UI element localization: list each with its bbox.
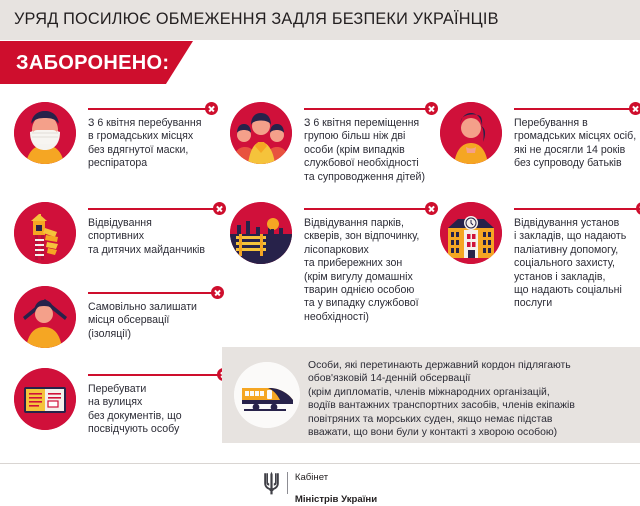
list-item-body: Відвідування спортивних та дитячих майда…	[88, 202, 222, 257]
playground-icon	[14, 202, 76, 264]
footer-line-1: Кабінет	[295, 472, 328, 483]
person-at-home-icon	[14, 286, 76, 348]
rule-line	[88, 108, 210, 110]
close-icon	[425, 202, 438, 215]
list-item-label: Перебування в громадських місцях осіб, я…	[514, 117, 638, 171]
list-item-label: З 6 квітня переміщення групою більш ніж …	[304, 117, 435, 184]
train-icon	[234, 362, 300, 428]
rule-line	[514, 108, 634, 110]
close-icon	[636, 202, 640, 215]
ukraine-trident-icon	[263, 471, 280, 495]
list-item-label: Відвідування парків, скверів, зон відпоч…	[304, 217, 435, 324]
id-document-icon	[14, 368, 76, 430]
institution-building-icon	[440, 202, 502, 264]
strike-rule	[88, 202, 222, 216]
close-icon	[629, 102, 640, 115]
rule-line	[88, 292, 216, 294]
list-item-body: Відвідування парків, скверів, зон відпоч…	[304, 202, 435, 324]
strike-rule	[514, 202, 640, 216]
rule-line	[88, 208, 218, 210]
group-of-people-icon	[230, 102, 292, 164]
strike-rule	[88, 286, 220, 300]
strike-rule	[88, 102, 214, 116]
list-item-body: Перебування в громадських місцях осіб, я…	[514, 102, 638, 171]
page-title: УРЯД ПОСИЛЮЄ ОБМЕЖЕННЯ ЗАДЛЯ БЕЗПЕКИ УКР…	[14, 10, 499, 29]
close-icon	[211, 286, 224, 299]
list-item-label: З 6 квітня перебування в громадських міс…	[88, 117, 214, 171]
list-item-body: Перебувати на вулицях без документів, що…	[88, 368, 226, 437]
close-icon	[205, 102, 218, 115]
border-crossing-callout: Особи, які перетинають державний кордон …	[222, 347, 640, 443]
list-item-body: Відвідування установ і закладів, що нада…	[514, 202, 640, 311]
person-with-mask-icon	[14, 102, 76, 164]
rule-line	[304, 108, 430, 110]
rule-line	[304, 208, 430, 210]
rule-line	[514, 208, 640, 210]
close-icon	[213, 202, 226, 215]
list-item-label: Самовільно залишати місця обсервації (із…	[88, 301, 220, 341]
list-item-label: Відвідування установ і закладів, що нада…	[514, 217, 640, 311]
list-item-label: Перебувати на вулицях без документів, що…	[88, 383, 226, 437]
list-item-body: Самовільно залишати місця обсервації (із…	[88, 286, 220, 341]
child-icon	[440, 102, 502, 164]
list-item-body: З 6 квітня перебування в громадських міс…	[88, 102, 214, 171]
close-icon	[425, 102, 438, 115]
footer: Кабінет Міністрів України	[0, 464, 640, 502]
border-crossing-text: Особи, які перетинають державний кордон …	[308, 359, 632, 439]
footer-separator	[287, 472, 288, 494]
footer-line-2: Міністрів України	[295, 494, 377, 505]
prohibited-ribbon-label: ЗАБОРОНЕНО:	[16, 52, 169, 75]
strike-rule	[88, 368, 226, 382]
rule-line	[88, 374, 222, 376]
park-bench-icon	[230, 202, 292, 264]
footer-organization: Кабінет Міністрів України	[295, 460, 377, 506]
list-item-body: З 6 квітня переміщення групою більш ніж …	[304, 102, 435, 184]
strike-rule	[304, 202, 435, 216]
strike-rule	[304, 102, 435, 116]
list-item-label: Відвідування спортивних та дитячих майда…	[88, 217, 222, 257]
strike-rule	[514, 102, 638, 116]
